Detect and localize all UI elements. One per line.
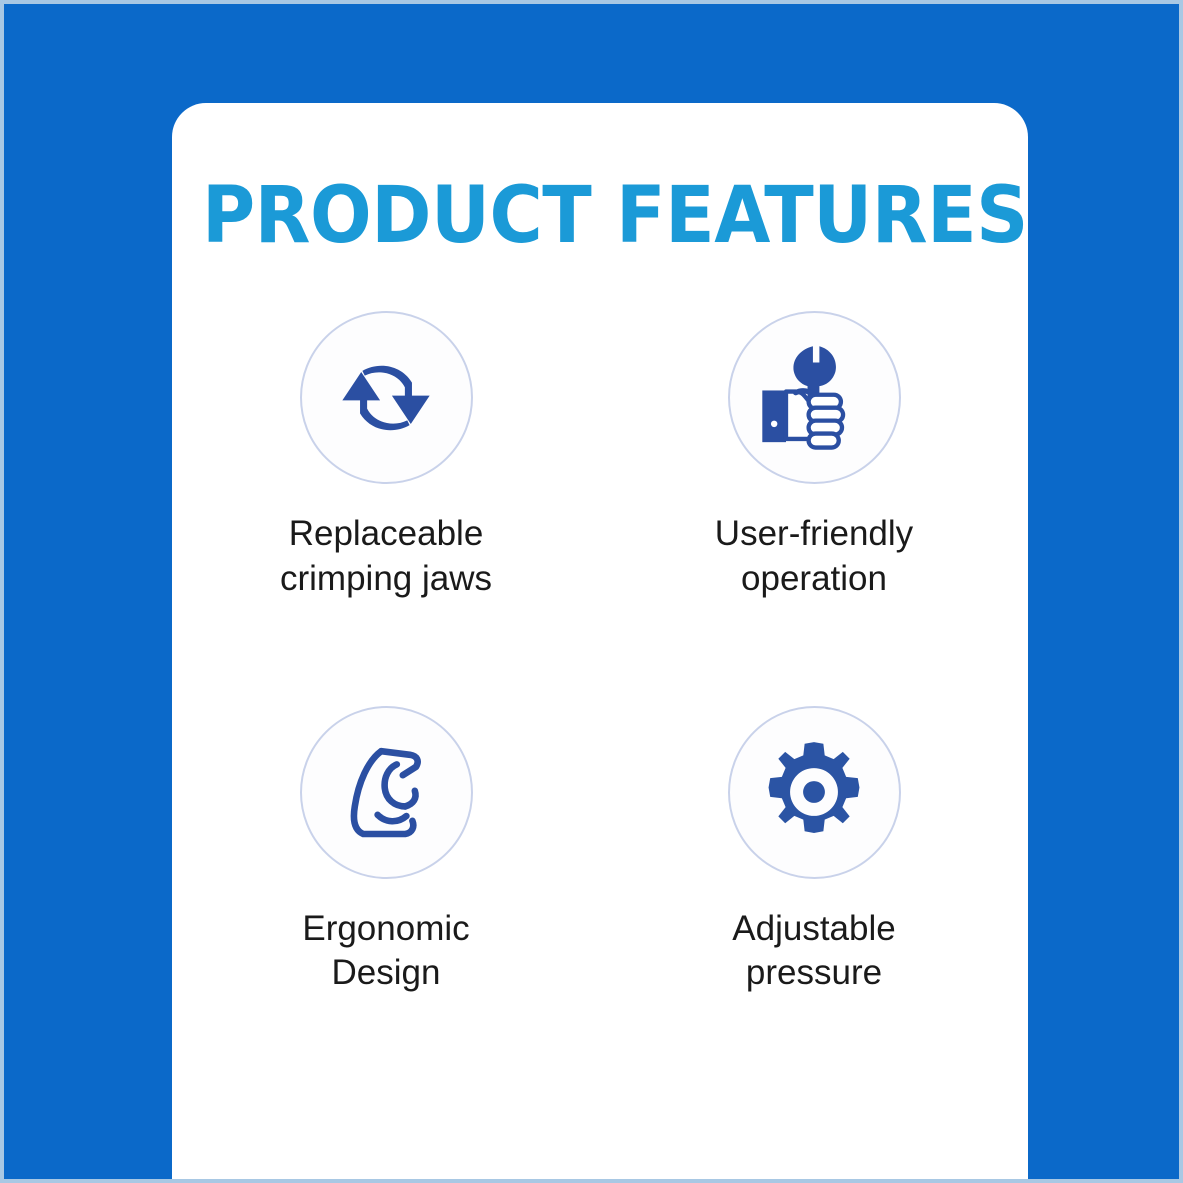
icon-circle <box>300 706 473 879</box>
feature-item-user-friendly-operation: User-friendly operation <box>600 311 1028 602</box>
flexed-bicep-icon <box>326 732 446 852</box>
feature-label: Replaceable crimping jaws <box>280 512 492 602</box>
gear-icon <box>762 740 866 844</box>
icon-circle <box>300 311 473 484</box>
feature-label: User-friendly operation <box>715 512 913 602</box>
icon-circle <box>728 706 901 879</box>
feature-label: Adjustable pressure <box>732 907 895 997</box>
feature-card: PRODUCT FEATURES Replaceable crimping ja… <box>172 103 1028 1183</box>
product-features-poster: PRODUCT FEATURES Replaceable crimping ja… <box>0 0 1183 1183</box>
icon-circle <box>728 311 901 484</box>
feature-item-replaceable-crimping-jaws: Replaceable crimping jaws <box>172 311 600 602</box>
feature-label: Ergonomic Design <box>302 907 469 997</box>
refresh-cycle-arrows-icon <box>327 339 445 457</box>
feature-item-adjustable-pressure: Adjustable pressure <box>600 706 1028 997</box>
hand-holding-wrench-icon <box>760 342 868 454</box>
feature-item-ergonomic-design: Ergonomic Design <box>172 706 600 997</box>
page-title: PRODUCT FEATURES <box>202 177 998 255</box>
feature-grid: Replaceable crimping jaws <box>172 311 1028 996</box>
